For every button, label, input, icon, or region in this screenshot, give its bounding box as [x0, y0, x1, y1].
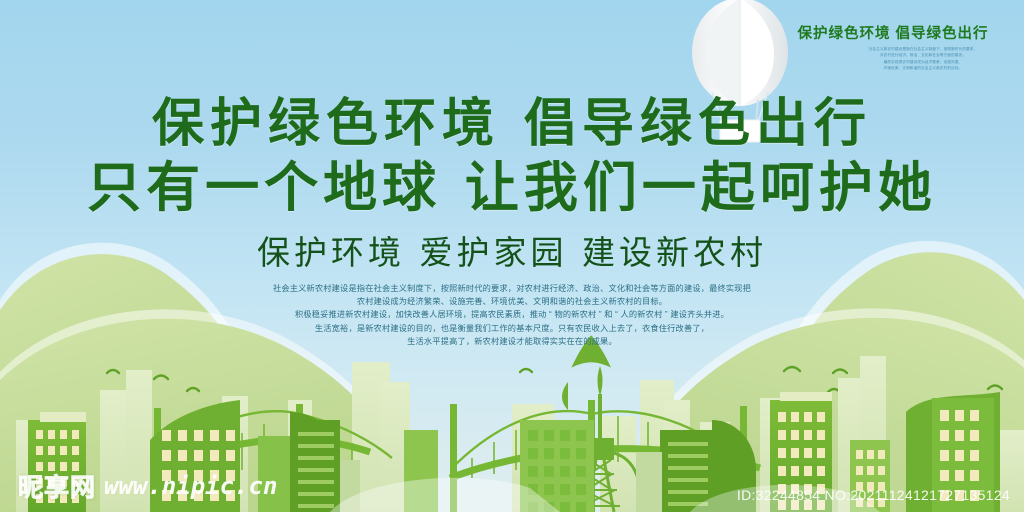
headline-block: 保护绿色环境 倡导绿色出行 只有一个地球 让我们一起呵护她	[0, 92, 1024, 220]
paragraph-line: 生活水平提高了，新农村建设才能取得实实在在的成果。	[0, 335, 1024, 348]
body-paragraph: 社会主义新农村建设是指在社会主义制度下，按照新时代的要求，对农村进行经济、政治、…	[0, 282, 1024, 348]
paragraph-line: 生活宽裕，是新农村建设的目的，也是衡量我们工作的基本尺度。只有农民收入上去了，衣…	[0, 322, 1024, 335]
paragraph-line: 社会主义新农村建设是指在社会主义制度下，按照新时代的要求，对农村进行经济、政治、…	[0, 282, 1024, 295]
subtitle: 保护环境 爱护家园 建设新农村	[0, 233, 1024, 273]
watermark-logo: 昵享网	[18, 468, 96, 504]
corner-body-line: 环境优美、文明和谐的社会主义新农村的目标。	[848, 65, 998, 71]
poster-canvas: 保护绿色环境 倡导绿色出行 社会主义新农村建设是指在社会主义制度下，按照新时代的…	[0, 0, 1024, 512]
corner-body-text: 社会主义新农村建设是指在社会主义制度下，按照新时代的要求， 对农村进行经济、政治…	[848, 46, 998, 71]
headline-line-1: 保护绿色环境 倡导绿色出行	[0, 92, 1024, 156]
watermark-url: www.nipic.cn	[104, 472, 277, 500]
paragraph-line: 农村建设成为经济繁荣、设施完善、环境优美、文明和谐的社会主义新农村的目标。	[0, 295, 1024, 308]
watermark: 昵享网 www.nipic.cn	[18, 468, 277, 504]
corner-heading: 保护绿色环境 倡导绿色出行	[778, 22, 1008, 43]
headline-line-2: 只有一个地球 让我们一起呵护她	[0, 156, 1024, 220]
paragraph-line: 积极稳妥推进新农村建设，加快改善人居环境，提高农民素质，推动 “ 物的新农村 ”…	[0, 308, 1024, 321]
image-id-line: ID:32244854 NO:20211124121727135124	[737, 487, 1010, 503]
